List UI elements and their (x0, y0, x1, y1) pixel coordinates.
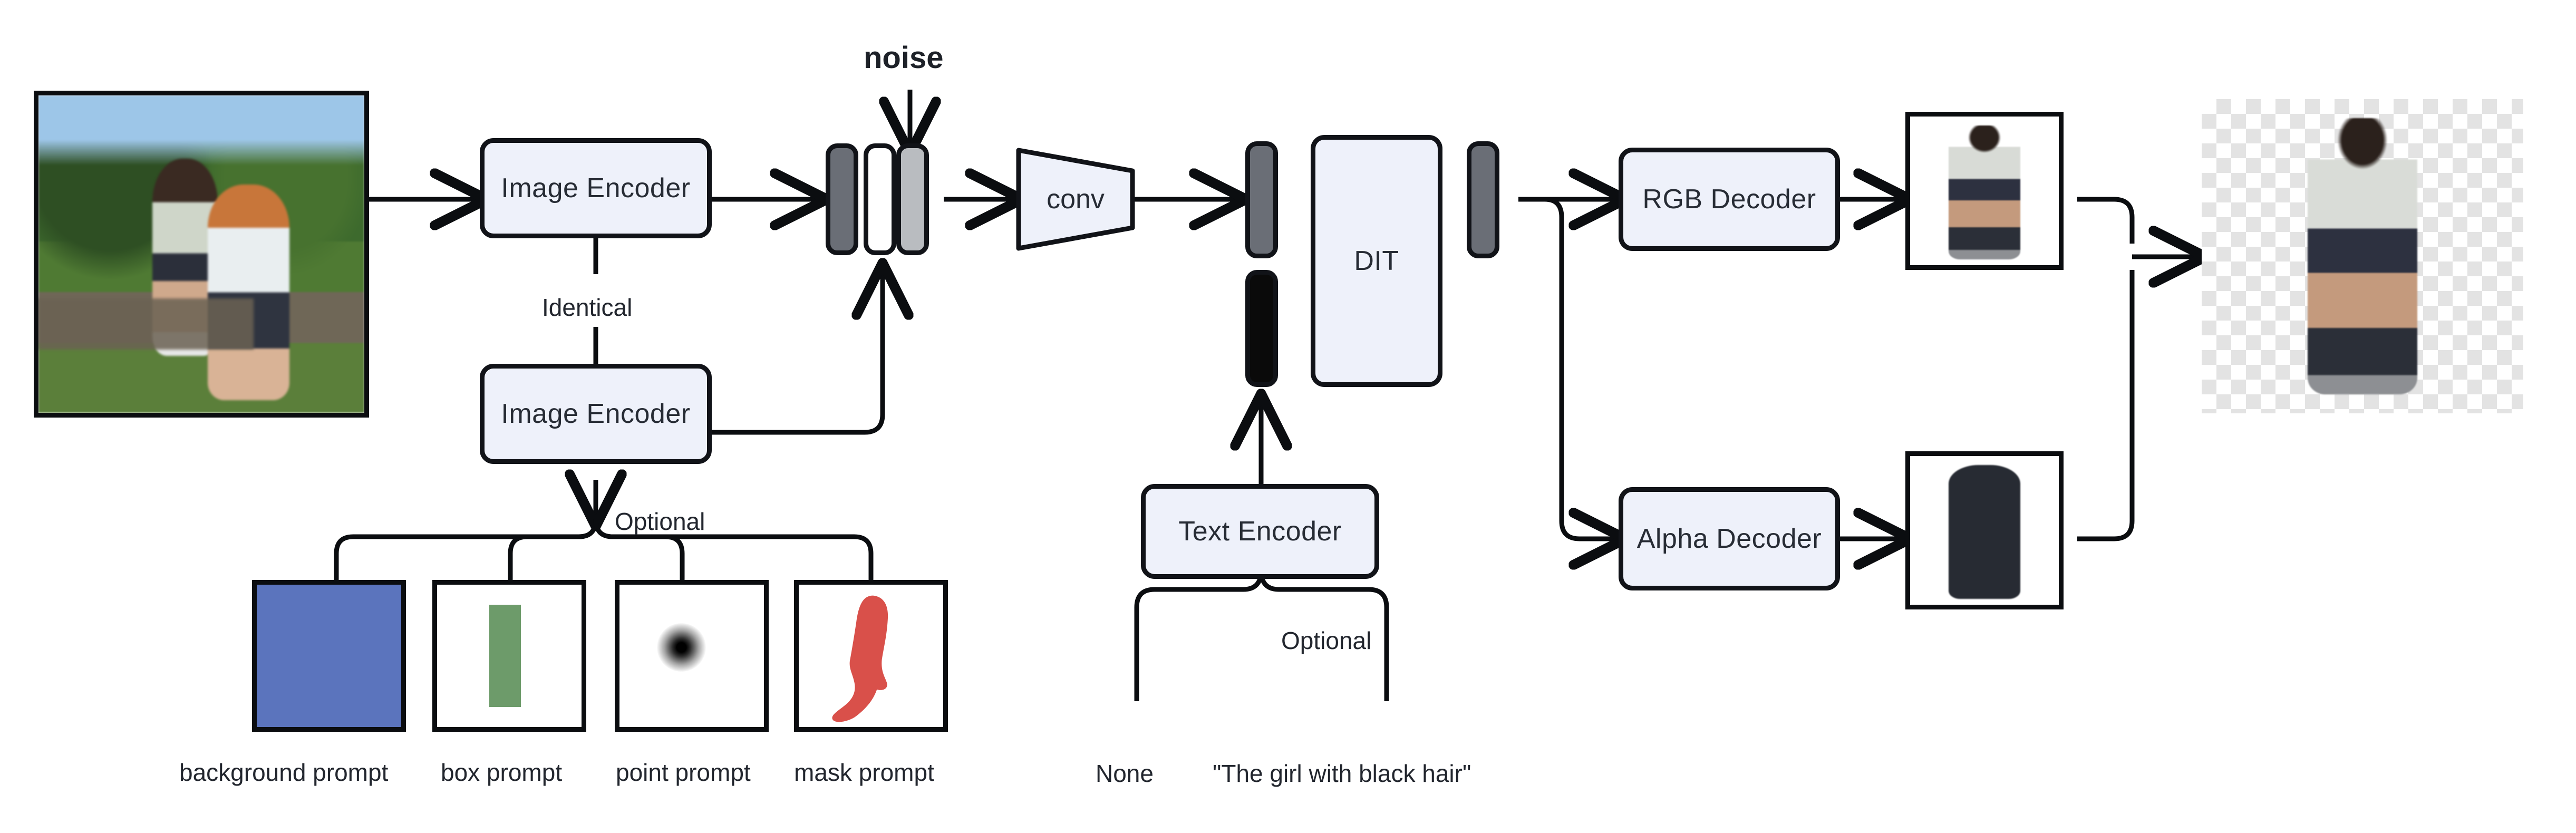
diagram-canvas: Image Encoder Identical Image Encoder Op… (0, 0, 2576, 833)
stone-wall (38, 298, 254, 349)
caption-background-prompt: background prompt (179, 758, 388, 787)
input-photo (34, 91, 369, 418)
box-prompt-rect (489, 605, 521, 707)
node-alpha-decoder[interactable]: Alpha Decoder (1619, 487, 1840, 590)
arrow-encoder2-to-latent (712, 270, 883, 432)
node-label: Image Encoder (501, 398, 690, 430)
prompt-thumb-box[interactable] (432, 580, 586, 732)
node-rgb-decoder[interactable]: RGB Decoder (1619, 148, 1840, 251)
node-label: Text Encoder (1178, 516, 1342, 547)
text-input-caption: "The girl with black hair" (1213, 759, 1471, 788)
rgb-output-image (1905, 112, 2064, 270)
node-label: DIT (1354, 245, 1399, 277)
brace-prompt-background (336, 519, 596, 580)
girl-rgb (1949, 125, 2020, 259)
label-identical: Identical (542, 293, 632, 322)
caption-box-prompt: box prompt (441, 758, 562, 787)
latent-bar-text (1245, 270, 1278, 387)
latent-bar-mask (864, 143, 896, 255)
node-image-encoder-top[interactable]: Image Encoder (480, 138, 712, 238)
latent-bar-dit-out (1467, 141, 1499, 258)
mask-prompt-silhouette (832, 596, 888, 722)
girl-alpha (1949, 465, 2020, 599)
prompt-thumb-mask[interactable] (794, 580, 948, 732)
point-prompt-dot (657, 623, 706, 672)
brace-text-none (1137, 570, 1261, 701)
background-prompt-fill (257, 585, 401, 727)
node-label: Alpha Decoder (1637, 523, 1822, 555)
prompt-thumb-point[interactable] (615, 580, 769, 732)
prompt-thumb-background[interactable] (252, 580, 406, 732)
node-image-encoder-bottom[interactable]: Image Encoder (480, 364, 712, 464)
node-dit[interactable]: DIT (1311, 135, 1442, 387)
label-noise: noise (864, 40, 944, 75)
alpha-output-image (1905, 451, 2064, 609)
latent-bar-noise (896, 143, 929, 255)
latent-bar-conv-out (1245, 141, 1278, 258)
arrow-dit-to-alpha-decoder (1545, 199, 1619, 539)
label-optional-image: Optional (615, 507, 705, 536)
node-label: conv (1047, 183, 1105, 215)
final-output-image (2202, 99, 2523, 413)
caption-point-prompt: point prompt (616, 758, 751, 787)
text-input-none: None (1096, 759, 1154, 788)
latent-bar-image (826, 143, 858, 255)
person-front (208, 185, 289, 400)
node-conv[interactable]: conv (1015, 147, 1136, 252)
merge-rgb-branch (2077, 199, 2132, 244)
node-label: RGB Decoder (1642, 183, 1816, 215)
node-text-encoder[interactable]: Text Encoder (1141, 484, 1379, 579)
node-label: Image Encoder (501, 172, 690, 204)
brace-prompt-box (510, 519, 596, 580)
caption-mask-prompt: mask prompt (794, 758, 934, 787)
label-optional-text: Optional (1281, 626, 1371, 655)
merge-alpha-branch (2077, 270, 2132, 539)
girl-transparent (2308, 118, 2417, 394)
